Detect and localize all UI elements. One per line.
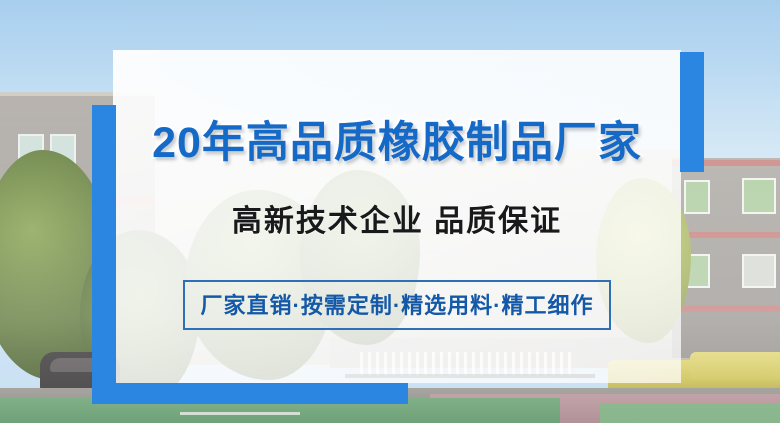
right-accent-bar: [680, 52, 704, 172]
headline: 20年高品质橡胶制品厂家: [152, 108, 642, 170]
tagline-box: 厂家直销·按需定制·精选用料·精工细作: [183, 280, 612, 330]
banner-content: 20年高品质橡胶制品厂家 高新技术企业 品质保证 厂家直销·按需定制·精选用料·…: [113, 50, 681, 383]
subheadline: 高新技术企业 品质保证: [232, 196, 562, 240]
bottom-accent-bar: [92, 383, 408, 404]
tagline: 厂家直销·按需定制·精选用料·精工细作: [201, 293, 594, 318]
promo-banner: 20年高品质橡胶制品厂家 高新技术企业 品质保证 厂家直销·按需定制·精选用料·…: [0, 0, 780, 423]
